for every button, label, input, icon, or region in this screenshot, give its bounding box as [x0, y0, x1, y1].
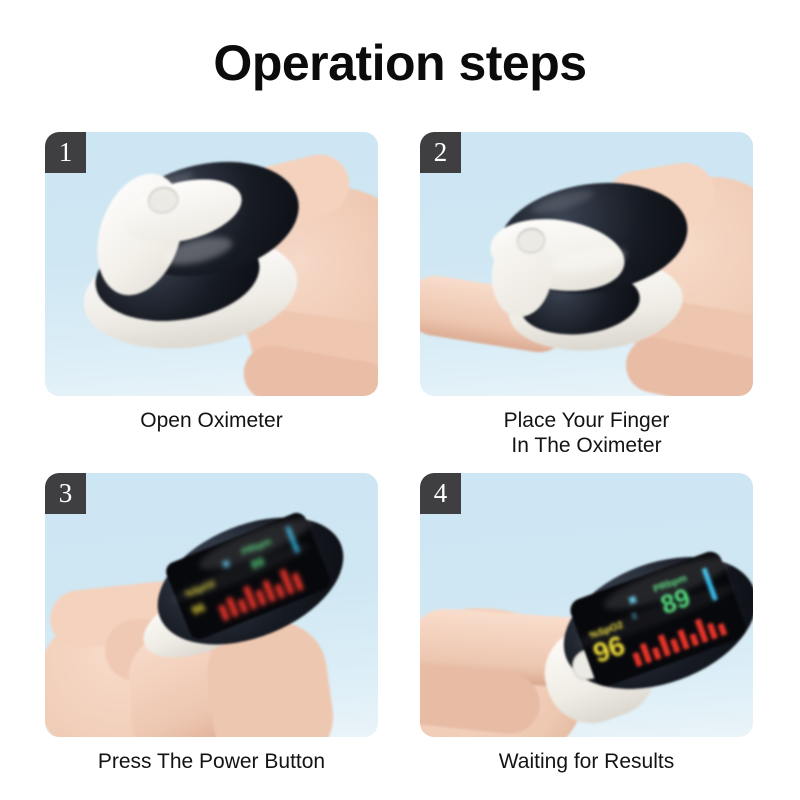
screen3-spo2-value: 96: [190, 600, 208, 618]
step-number-badge-2: 2: [420, 132, 461, 173]
scene-waiting-for-results: %SpO2 96 ▣ ||| PRbpm 89: [420, 473, 753, 737]
step-caption-4-line1: Waiting for Results: [499, 750, 674, 773]
step-card-4: 4 %SpO: [420, 473, 753, 774]
step-card-2: 2: [420, 132, 753, 458]
scene-press-power-button: %SpO2 PRbpm ▣ 96 89: [45, 473, 378, 737]
step-caption-1: Open Oximeter: [45, 408, 378, 433]
steps-grid: 1: [45, 132, 755, 792]
step-caption-2-line1: Place Your Finger: [504, 409, 670, 432]
scene-place-finger: [420, 132, 753, 396]
step-photo-2: 2: [420, 132, 753, 396]
step-photo-4: 4 %SpO: [420, 473, 753, 737]
step-card-1: 1: [45, 132, 378, 433]
step-number-badge-1: 1: [45, 132, 86, 173]
step-number-badge-4: 4: [420, 473, 461, 514]
step-caption-2: Place Your Finger In The Oximeter: [420, 408, 753, 458]
page-title: Operation steps: [0, 34, 800, 92]
step-caption-3: Press The Power Button: [45, 749, 378, 774]
page-root: Operation steps 1: [0, 0, 800, 800]
scene-open-oximeter: [45, 132, 378, 396]
step-caption-3-line1: Press The Power Button: [98, 750, 325, 773]
step-photo-1: 1: [45, 132, 378, 396]
step-card-3: 3: [45, 473, 378, 774]
step-caption-4: Waiting for Results: [420, 749, 753, 774]
step-number-badge-3: 3: [45, 473, 86, 514]
step-caption-1-line1: Open Oximeter: [140, 409, 282, 432]
step-caption-2-line2: In The Oximeter: [420, 433, 753, 458]
step-photo-3: 3: [45, 473, 378, 737]
